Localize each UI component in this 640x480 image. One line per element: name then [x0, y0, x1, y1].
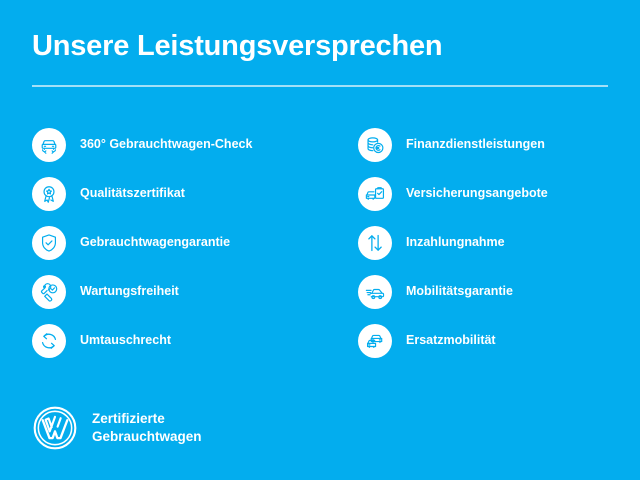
car-motion-icon — [358, 275, 392, 309]
car-clipboard-check-icon — [358, 177, 392, 211]
promise-label: Umtauschrecht — [80, 333, 171, 348]
promise-item-used-car-warranty[interactable]: Gebrauchtwagengarantie — [32, 218, 320, 267]
promise-label: Finanzdienstleistungen — [406, 137, 545, 152]
page-title: Unsere Leistungsversprechen — [32, 30, 442, 63]
brand-text: Zertifizierte Gebrauchtwagen — [92, 410, 202, 446]
promise-column-right: Finanzdienstleistungen Versicherungsange… — [320, 120, 640, 365]
promise-label: Qualitätszertifikat — [80, 186, 185, 201]
promise-item-quality-certificate[interactable]: Qualitätszertifikat — [32, 169, 320, 218]
promise-poster: Unsere Leistungsversprechen — [0, 0, 640, 480]
brand-line-1: Zertifizierte — [92, 410, 202, 428]
promise-item-mobility-guarantee[interactable]: Mobilitätsgarantie — [358, 267, 640, 316]
exchange-arrows-icon — [32, 324, 66, 358]
coins-euro-icon — [358, 128, 392, 162]
up-down-arrows-icon — [358, 226, 392, 260]
shield-check-icon — [32, 226, 66, 260]
promise-label: Gebrauchtwagengarantie — [80, 235, 230, 250]
promise-label: Inzahlungnahme — [406, 235, 505, 250]
promise-item-replacement-mobility[interactable]: Ersatzmobilität — [358, 316, 640, 365]
promise-column-left: 360° Gebrauchtwagen-Check Qualitätszerti… — [0, 120, 320, 365]
promise-item-financial-services[interactable]: Finanzdienstleistungen — [358, 120, 640, 169]
promise-columns: 360° Gebrauchtwagen-Check Qualitätszerti… — [0, 120, 640, 365]
promise-item-360-check[interactable]: 360° Gebrauchtwagen-Check — [32, 120, 320, 169]
promise-item-insurance-offers[interactable]: Versicherungsangebote — [358, 169, 640, 218]
promise-item-exchange-right[interactable]: Umtauschrecht — [32, 316, 320, 365]
promise-label: Mobilitätsgarantie — [406, 284, 513, 299]
promise-item-maintenance-free[interactable]: Wartungsfreiheit — [32, 267, 320, 316]
award-rosette-icon — [32, 177, 66, 211]
brand-lockup: Zertifizierte Gebrauchtwagen — [32, 405, 202, 451]
brand-line-2: Gebrauchtwagen — [92, 428, 202, 446]
car-360-check-icon — [32, 128, 66, 162]
two-cars-icon — [358, 324, 392, 358]
wrench-check-icon — [32, 275, 66, 309]
header-divider — [32, 85, 608, 87]
volkswagen-logo-icon — [32, 405, 78, 451]
promise-label: 360° Gebrauchtwagen-Check — [80, 137, 252, 152]
promise-label: Ersatzmobilität — [406, 333, 496, 348]
promise-item-trade-in[interactable]: Inzahlungnahme — [358, 218, 640, 267]
promise-label: Versicherungsangebote — [406, 186, 548, 201]
promise-label: Wartungsfreiheit — [80, 284, 179, 299]
